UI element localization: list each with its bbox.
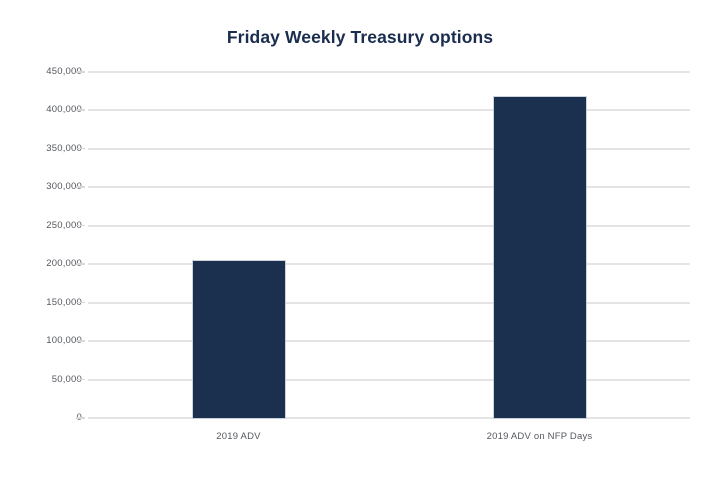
y-axis-tick-label: 400,000 <box>0 104 82 116</box>
y-axis-tick-label: 350,000 <box>0 143 82 155</box>
gridline <box>88 148 690 150</box>
y-axis-tick-mark <box>76 263 85 265</box>
y-axis-tick-mark <box>76 302 85 304</box>
y-axis-tick-label: 250,000 <box>0 220 82 232</box>
y-axis-tick-mark <box>76 225 85 227</box>
y-axis-tick-label: 100,000 <box>0 335 82 347</box>
y-axis-tick-label: 450,000 <box>0 66 82 78</box>
gridline <box>88 263 690 265</box>
y-axis-tick-label: 200,000 <box>0 258 82 270</box>
gridline <box>88 109 690 111</box>
gridline <box>88 302 690 304</box>
y-axis-tick-mark <box>76 109 85 111</box>
y-axis-tick-mark <box>76 186 85 188</box>
y-axis-tick-mark <box>76 417 85 419</box>
y-axis-tick-label: 150,000 <box>0 297 82 309</box>
plot-area <box>88 72 690 418</box>
y-axis-tick-label: 0 <box>0 412 82 424</box>
bar-chart: Friday Weekly Treasury options 050,00010… <box>0 0 720 500</box>
x-axis-tick-label: 2019 ADV on NFP Days <box>390 430 690 443</box>
gridline <box>88 340 690 342</box>
y-axis-tick-label: 50,000 <box>0 374 82 386</box>
y-axis-tick-mark <box>76 379 85 381</box>
y-axis-tick-mark <box>76 71 85 73</box>
gridline <box>88 417 690 419</box>
y-axis-tick-label: 300,000 <box>0 181 82 193</box>
bar-0 <box>193 261 285 418</box>
gridline <box>88 379 690 381</box>
x-axis-tick-label: 2019 ADV <box>89 430 389 443</box>
bar-1 <box>494 97 586 418</box>
chart-title: Friday Weekly Treasury options <box>0 26 720 48</box>
gridline <box>88 186 690 188</box>
gridline <box>88 71 690 73</box>
y-axis-tick-mark <box>76 148 85 150</box>
y-axis-tick-mark <box>76 340 85 342</box>
gridline <box>88 225 690 227</box>
